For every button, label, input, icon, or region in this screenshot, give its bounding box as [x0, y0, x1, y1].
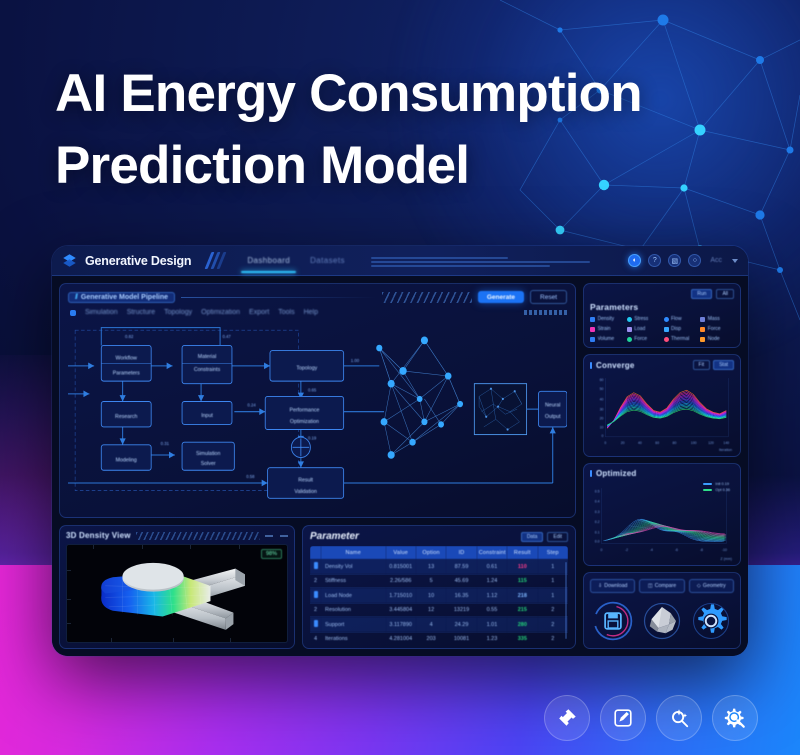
canvas-top-row: // Generative Model Pipeline Generate Re…: [68, 290, 567, 304]
legend-row-init: Init 0.19: [703, 482, 730, 486]
legend-label: Mass: [708, 316, 720, 322]
cell-name: Support: [321, 617, 386, 633]
3d-part-render: [67, 545, 287, 642]
cell-constraint: 1.24: [477, 575, 507, 588]
legend-item[interactable]: Load: [627, 326, 661, 332]
legend-swatch: [590, 317, 595, 322]
legend-item[interactable]: Density: [590, 316, 624, 322]
legend-label: Stress: [634, 316, 648, 322]
search-spark-icon[interactable]: [656, 695, 702, 741]
canvas-dots-decoration: [524, 310, 567, 315]
legend-label: Strain: [598, 326, 611, 332]
optimized-chart-title: Optimized: [596, 469, 636, 478]
row-marker: [310, 617, 321, 633]
svg-text:0: 0: [601, 548, 603, 552]
left-column: // Generative Model Pipeline Generate Re…: [59, 283, 576, 649]
svg-text:0.5: 0.5: [595, 489, 600, 493]
generate-button[interactable]: Generate: [478, 291, 524, 303]
cell-value: 0.815001: [386, 559, 416, 575]
legend-all-button[interactable]: All: [716, 289, 734, 299]
svg-text:0.31: 0.31: [161, 441, 170, 446]
legend-item[interactable]: Mass: [700, 316, 734, 322]
cell-id: 16.35: [446, 588, 476, 604]
svg-text:40: 40: [600, 397, 604, 401]
converge-chart-stage[interactable]: 605040 302010 0 02040 6080100 120140 Ite…: [590, 372, 734, 451]
right-sidebar: Run All Parameters DensityStressFlowMass…: [583, 283, 741, 649]
th-option[interactable]: Option: [416, 546, 446, 559]
settings-gear-icon[interactable]: [690, 600, 732, 642]
cell-id: 13219: [446, 604, 476, 617]
viewport-title: 3D Density View: [66, 531, 131, 540]
optimized-mesh-crossline: [612, 533, 635, 539]
converge-fit-button[interactable]: Fit: [693, 360, 711, 370]
th-id[interactable]: ID: [446, 546, 476, 559]
download-label: Download: [604, 583, 627, 589]
menu-item-tools[interactable]: Tools: [278, 309, 294, 316]
svg-text:Result: Result: [298, 478, 313, 484]
cell-option: 10: [416, 588, 446, 604]
th-result[interactable]: Result: [507, 546, 537, 559]
svg-text:-2: -2: [625, 548, 628, 552]
table-row[interactable]: 2Stiffness2.26/586545.691.241151: [310, 575, 568, 588]
svg-text:0.47: 0.47: [222, 334, 231, 339]
legend-row-opt: Opt 0.36: [703, 488, 730, 492]
legend-item[interactable]: Strain: [590, 326, 624, 332]
legend-title: Parameters: [590, 302, 734, 312]
save-document-icon[interactable]: [592, 600, 634, 642]
table-row[interactable]: 2Resolution3.44580412132190.552152: [310, 604, 568, 617]
profile-icon[interactable]: ○: [688, 254, 701, 267]
header-icon-group: ◐ ? ▧ ○ Acc: [628, 254, 738, 267]
svg-text:Output: Output: [545, 414, 561, 420]
svg-text:0.0: 0.0: [595, 539, 600, 543]
optimized-chart-header: Optimized: [590, 469, 734, 478]
viewport-3d-stage[interactable]: 98%: [66, 544, 288, 643]
svg-text:80: 80: [673, 441, 677, 445]
edit-pencil-icon[interactable]: [600, 695, 646, 741]
cell-option: 4: [416, 617, 446, 633]
viewport-hatch-decoration: [136, 532, 260, 540]
canvas-divider-line: [181, 297, 376, 298]
menu-dot-icon: [70, 310, 76, 316]
svg-text:Workflow: Workflow: [116, 355, 137, 361]
hero-title-line-1: AI Energy Consumption: [55, 58, 642, 130]
svg-text:0.1: 0.1: [595, 530, 600, 534]
texture-preview: [474, 384, 526, 435]
cell-step: 2: [538, 633, 568, 644]
legend-grid: DensityStressFlowMassStrainLoadDispForce…: [590, 316, 734, 342]
help-icon[interactable]: ?: [648, 254, 661, 267]
optimized-mesh-crossline: [603, 534, 626, 541]
legend-swatch: [700, 337, 705, 342]
svg-text:Constraints: Constraints: [194, 367, 221, 373]
table-body: Density Vol0.8150011387.590.6111012Stiff…: [310, 559, 568, 643]
cell-option: 203: [416, 633, 446, 644]
geometry-label: Geometry: [703, 583, 726, 589]
bar-indicator-icon: [590, 362, 592, 369]
viewport-badge: 98%: [261, 549, 282, 559]
canvas-menu-row: Simulation Structure Topology Optimizati…: [68, 309, 567, 316]
layers-icon[interactable]: ▧: [668, 254, 681, 267]
svg-text:0: 0: [602, 434, 604, 438]
legend-swatch: [700, 327, 705, 332]
settings-search-icon[interactable]: [712, 695, 758, 741]
legend-label: Volume: [598, 336, 615, 342]
svg-text:-10: -10: [722, 548, 727, 552]
cell-step: 1: [538, 588, 568, 604]
cell-step: 1: [538, 575, 568, 588]
cell-option: 13: [416, 559, 446, 575]
app-body: // Generative Model Pipeline Generate Re…: [52, 276, 748, 656]
geometry-button[interactable]: ◇ Geometry: [689, 579, 734, 593]
cell-value: 4.281004: [386, 633, 416, 644]
legend-swatch: [664, 327, 669, 332]
cell-name: Iterations: [321, 633, 386, 644]
legend-label: Node: [708, 336, 720, 342]
cell-constraint: 1.12: [477, 588, 507, 604]
svg-text:0.3: 0.3: [595, 510, 600, 514]
svg-text:50: 50: [600, 387, 604, 391]
legend-buttons: Run All: [590, 289, 734, 299]
actions-panel: ⇩ Download ◫ Compare ◇ Geometry: [583, 572, 741, 649]
legend-item[interactable]: Thermal: [664, 336, 698, 342]
chevron-down-icon[interactable]: [732, 259, 738, 263]
table-data-button[interactable]: Data: [521, 532, 544, 542]
optimized-mesh-chart: 0.50.40.3 0.20.10.0 0-2-4 -6-8-10: [590, 480, 734, 560]
svg-text:Performance: Performance: [289, 408, 319, 414]
header-tabs: Dashboard Datasets: [247, 246, 345, 275]
cell-result: 115: [507, 575, 537, 588]
cell-constraint: 0.61: [477, 559, 507, 575]
converge-ridgeline-chart: 605040 302010 0 02040 6080100 120140: [590, 372, 734, 451]
hero-title-line-2: Prediction Model: [55, 130, 642, 202]
svg-text:Solver: Solver: [201, 461, 216, 467]
converge-chart-header: Converge Fit Stat: [590, 360, 734, 370]
th-constraint[interactable]: Constraint: [477, 546, 507, 559]
cell-name: Stiffness: [321, 575, 386, 588]
pipeline-tag-chip[interactable]: // Generative Model Pipeline: [68, 292, 175, 303]
double-slash-icon: //: [75, 294, 77, 301]
svg-text:-4: -4: [650, 548, 653, 552]
row-marker: 2: [310, 604, 321, 617]
svg-text:60: 60: [655, 441, 659, 445]
legend-label: Flow: [671, 316, 682, 322]
reset-button[interactable]: Reset: [530, 290, 567, 304]
cell-option: 12: [416, 604, 446, 617]
th-name[interactable]: Name: [321, 546, 386, 559]
svg-text:20: 20: [621, 441, 625, 445]
app-window: Generative Design Dashboard Datasets ◐ ?…: [52, 246, 748, 656]
cell-name: Density Vol: [321, 559, 386, 575]
cell-step: 2: [538, 604, 568, 617]
legend-swatch: [664, 337, 669, 342]
table-buttons: Data Edit: [521, 532, 568, 542]
converge-chart-buttons: Fit Stat: [693, 360, 734, 370]
legend-item[interactable]: Force: [627, 336, 661, 342]
table-header: Parameter Data Edit: [310, 531, 568, 542]
menu-item-optimization[interactable]: Optimization: [201, 309, 240, 316]
cell-name: Resolution: [321, 604, 386, 617]
pipeline-tag-label: Generative Model Pipeline: [81, 294, 168, 301]
svg-text:Parameters: Parameters: [113, 371, 140, 377]
legend-label: Disp: [671, 326, 681, 332]
optimized-chart-stage[interactable]: 0.50.40.3 0.20.10.0 0-2-4 -6-8-10 Init 0…: [590, 480, 734, 560]
cell-result: 218: [507, 588, 537, 604]
legend-swatch: [590, 327, 595, 332]
canvas-hatch-decoration: [382, 292, 472, 303]
cell-id: 10081: [446, 633, 476, 644]
header-placeholder-lines: [371, 255, 620, 267]
viewport-header: 3D Density View: [66, 531, 288, 540]
cell-result: 280: [507, 617, 537, 633]
legend-label: Load: [634, 326, 645, 332]
svg-text:Input: Input: [201, 413, 213, 419]
legend-line-init: [703, 483, 712, 485]
cell-constraint: 1.01: [477, 617, 507, 633]
svg-text:140: 140: [723, 441, 729, 445]
brand-label: Generative Design: [85, 254, 191, 268]
svg-text:Material: Material: [198, 354, 217, 360]
legend-item[interactable]: Node: [700, 336, 734, 342]
legend-label: Thermal: [671, 336, 689, 342]
svg-text:0.2: 0.2: [595, 520, 600, 524]
cell-step: 1: [538, 559, 568, 575]
menu-item-structure[interactable]: Structure: [127, 309, 155, 316]
menu-item-export[interactable]: Export: [249, 309, 269, 316]
pin-icon[interactable]: [544, 695, 590, 741]
table-title: Parameter: [310, 531, 359, 542]
bottom-row: 3D Density View: [59, 525, 576, 649]
svg-text:30: 30: [600, 407, 604, 411]
legend-label: Force: [708, 326, 721, 332]
legend-item[interactable]: Flow: [664, 316, 698, 322]
legend-swatch: [627, 317, 632, 322]
svg-text:20: 20: [600, 417, 604, 421]
svg-text:0: 0: [604, 441, 606, 445]
compare-button[interactable]: ◫ Compare: [639, 579, 684, 593]
svg-text:-8: -8: [700, 548, 703, 552]
cell-option: 5: [416, 575, 446, 588]
converge-stat-button[interactable]: Stat: [713, 360, 734, 370]
viewport-panel: 3D Density View: [59, 525, 295, 649]
svg-text:1.00: 1.00: [351, 358, 360, 363]
svg-text:Simulation: Simulation: [196, 451, 220, 457]
svg-text:Research: Research: [115, 414, 137, 420]
table-row[interactable]: Density Vol0.8150011387.590.611101: [310, 559, 568, 575]
table-edit-button[interactable]: Edit: [547, 532, 568, 542]
menu-item-topology[interactable]: Topology: [164, 309, 192, 316]
cell-result: 110: [507, 559, 537, 575]
cell-value: 3.117890: [386, 617, 416, 633]
parameter-table: Name Value Option ID Constraint Result S…: [310, 546, 568, 643]
cell-name: Load Node: [321, 588, 386, 604]
parameters-legend-panel: Run All Parameters DensityStressFlowMass…: [583, 283, 741, 348]
optimized-chart-legend: Init 0.19 Opt 0.36: [703, 482, 730, 492]
pipeline-diagram: WorkflowParameters MaterialConstraints T…: [68, 320, 567, 511]
notification-icon[interactable]: ◐: [628, 254, 641, 267]
row-marker: 2: [310, 575, 321, 588]
svg-text:120: 120: [708, 441, 714, 445]
svg-text:-6: -6: [675, 548, 678, 552]
cell-value: 3.445804: [386, 604, 416, 617]
legend-label: Density: [598, 316, 615, 322]
svg-text:0.19: 0.19: [308, 436, 317, 441]
download-icon: ⇩: [598, 583, 602, 589]
floating-toolbar: [544, 695, 758, 741]
svg-text:Neural: Neural: [545, 402, 560, 408]
optimized-chart-xlabel: Z (mm): [720, 557, 732, 561]
svg-text:0.4: 0.4: [595, 499, 600, 503]
table-row[interactable]: Load Node1.7150101016.351.122181: [310, 588, 568, 604]
legend-swatch: [627, 327, 632, 332]
cell-result: 335: [507, 633, 537, 644]
svg-text:Optimization: Optimization: [290, 419, 319, 425]
legend-label: Force: [634, 336, 647, 342]
menu-item-simulation[interactable]: Simulation: [85, 309, 118, 316]
legend-item[interactable]: Force: [700, 326, 734, 332]
compare-icon: ◫: [648, 583, 653, 589]
table-scroll-wrap: Name Value Option ID Constraint Result S…: [310, 546, 568, 643]
table-header-row: Name Value Option ID Constraint Result S…: [310, 546, 568, 559]
header-slash-decoration: [205, 252, 227, 269]
th-value[interactable]: Value: [386, 546, 416, 559]
converge-chart-xlabel: Iteration: [719, 448, 732, 452]
svg-text:100: 100: [691, 441, 697, 445]
optimized-chart-panel: Optimized 0.50.40.3 0.20.10.0: [583, 463, 741, 566]
svg-text:10: 10: [600, 426, 604, 430]
big-icon-row: [590, 600, 734, 642]
svg-text:60: 60: [600, 378, 604, 382]
cell-step: 2: [538, 617, 568, 633]
cell-value: 2.26/586: [386, 575, 416, 588]
table-row[interactable]: Support3.117890424.291.012802: [310, 617, 568, 633]
svg-text:Validation: Validation: [294, 489, 317, 495]
svg-text:0.58: 0.58: [246, 474, 255, 479]
table-scrollbar[interactable]: [565, 562, 567, 639]
legend-swatch: [664, 317, 669, 322]
cell-id: 45.69: [446, 575, 476, 588]
svg-text:0.24: 0.24: [247, 402, 256, 407]
legend-line-opt: [703, 489, 712, 491]
table-row[interactable]: 4Iterations4.281004203100811.233352: [310, 633, 568, 644]
pipeline-canvas-panel: // Generative Model Pipeline Generate Re…: [59, 283, 576, 518]
th-mark: [310, 546, 321, 559]
tab-datasets[interactable]: Datasets: [310, 246, 345, 275]
row-marker: [310, 588, 321, 604]
svg-text:0.82: 0.82: [125, 334, 134, 339]
svg-text:0.65: 0.65: [308, 387, 317, 392]
cell-id: 24.29: [446, 617, 476, 633]
converge-chart-panel: Converge Fit Stat 605040: [583, 354, 741, 457]
legend-swatch: [627, 337, 632, 342]
menu-item-help[interactable]: Help: [304, 309, 318, 316]
bar-indicator-icon: [590, 470, 592, 477]
cell-id: 87.59: [446, 559, 476, 575]
legend-label-opt: Opt 0.36: [715, 488, 730, 492]
tab-dashboard[interactable]: Dashboard: [247, 246, 290, 275]
legend-swatch: [700, 317, 705, 322]
cell-value: 1.715010: [386, 588, 416, 604]
row-marker: [310, 559, 321, 575]
converge-chart-title: Converge: [596, 361, 635, 370]
geometry-icon: ◇: [697, 583, 701, 589]
svg-text:Topology: Topology: [296, 366, 317, 372]
hero-title: AI Energy Consumption Prediction Model: [55, 58, 642, 201]
app-header: Generative Design Dashboard Datasets ◐ ?…: [52, 246, 748, 276]
user-label[interactable]: Acc: [710, 257, 722, 264]
layers-diamond-icon: [62, 253, 77, 268]
svg-text:Modeling: Modeling: [116, 457, 137, 463]
polygon-cluster-icon[interactable]: [641, 600, 683, 642]
legend-item[interactable]: Stress: [627, 316, 661, 322]
row-marker: 4: [310, 633, 321, 644]
download-button[interactable]: ⇩ Download: [590, 579, 635, 593]
action-buttons-row: ⇩ Download ◫ Compare ◇ Geometry: [590, 579, 734, 593]
legend-swatch: [590, 337, 595, 342]
legend-label-init: Init 0.19: [715, 482, 729, 486]
parameter-table-panel: Parameter Data Edit Name Value: [302, 525, 576, 649]
legend-run-button[interactable]: Run: [691, 289, 712, 299]
compare-label: Compare: [655, 583, 676, 589]
more-options-icon[interactable]: [265, 535, 288, 537]
legend-item[interactable]: Disp: [664, 326, 698, 332]
svg-text:40: 40: [638, 441, 642, 445]
cell-result: 215: [507, 604, 537, 617]
cell-constraint: 1.23: [477, 633, 507, 644]
legend-item[interactable]: Volume: [590, 336, 624, 342]
cell-constraint: 0.55: [477, 604, 507, 617]
th-step[interactable]: Step: [538, 546, 568, 559]
